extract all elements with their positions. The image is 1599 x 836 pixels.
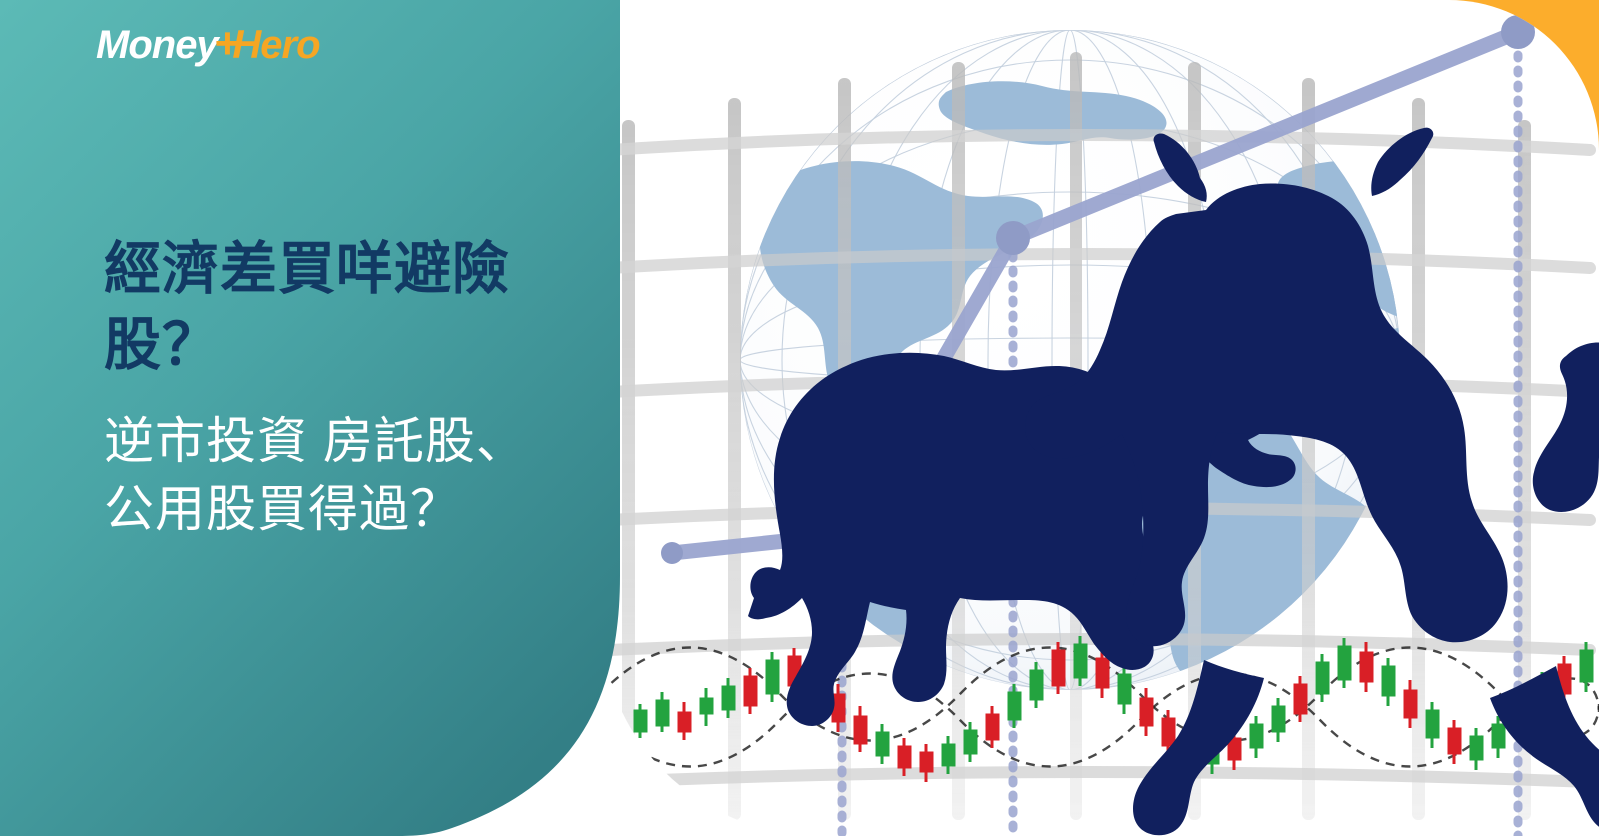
artwork-panel	[600, 0, 1599, 836]
logo-money-text: Money	[96, 25, 218, 65]
candle	[678, 702, 691, 740]
candle	[1470, 728, 1483, 770]
page-title: 經濟差買咩避險股？	[104, 232, 574, 384]
candle	[1338, 638, 1351, 688]
page-subtitle: 逆市投資 房託股、公用股買得過？	[104, 408, 574, 543]
candle	[1382, 658, 1395, 706]
candle	[964, 722, 977, 762]
candle	[1250, 716, 1263, 758]
candlestick-chart	[600, 636, 1599, 782]
candle	[1074, 636, 1087, 686]
candle	[854, 706, 867, 752]
social-card: Money+Hero 經濟差買咩避險股？ 逆市投資 房託股、公用股買得過？	[0, 0, 1599, 836]
moneyhero-logo[interactable]: Money+Hero	[96, 22, 320, 66]
left-content: Money+Hero 經濟差買咩避險股？ 逆市投資 房託股、公用股買得過？	[0, 0, 620, 836]
artwork-illustration	[600, 0, 1599, 836]
candle	[986, 706, 999, 748]
candle	[1360, 642, 1373, 692]
candle	[1052, 642, 1065, 694]
candle	[1272, 698, 1285, 742]
candle	[1316, 654, 1329, 702]
candle	[766, 652, 779, 702]
logo-hero-text: Hero	[232, 25, 319, 65]
candle	[1426, 702, 1439, 748]
candle	[656, 692, 669, 732]
candle	[700, 688, 713, 726]
candle	[1580, 642, 1593, 692]
candle	[876, 724, 889, 764]
candle	[634, 704, 647, 738]
candle	[744, 668, 757, 714]
